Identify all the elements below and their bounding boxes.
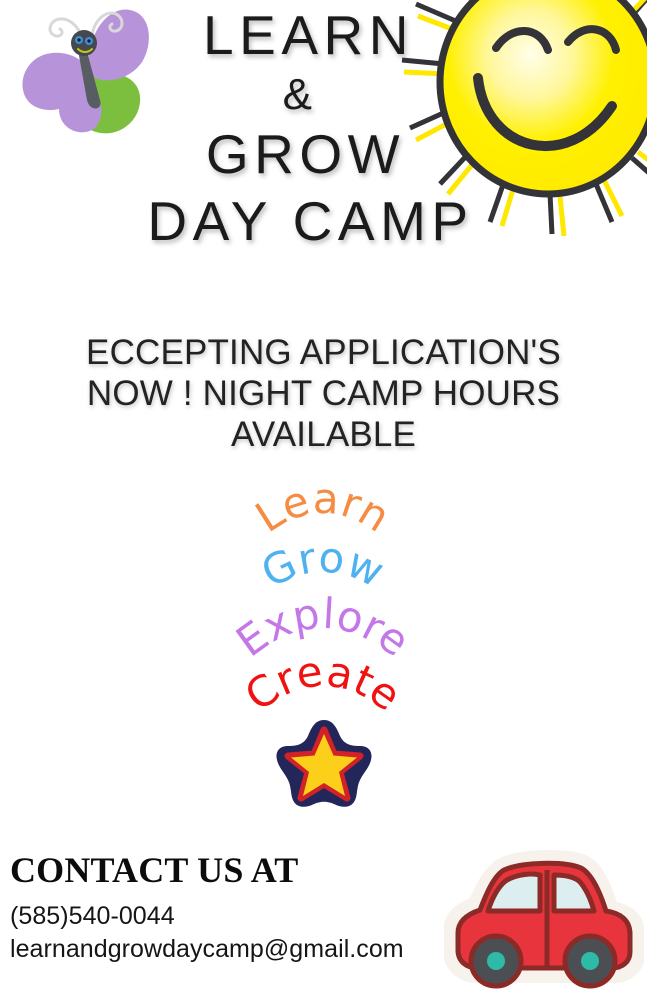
title-line-ampersand: & — [0, 73, 647, 117]
announcement-line-1: ECCEPTING APPLICATION'S — [0, 333, 647, 374]
contact-phone[interactable]: (585)540-0044 — [10, 900, 470, 934]
contact-heading: CONTACT US AT — [10, 852, 470, 890]
star-badge-icon — [274, 718, 374, 810]
arched-word-explore: Explore — [227, 589, 418, 667]
title-line-day-camp: DAY CAMP — [0, 194, 647, 249]
contact-email[interactable]: learnandgrowdaycamp@gmail.com — [10, 933, 470, 967]
announcement-line-2: NOW ! NIGHT CAMP HOURS — [0, 374, 647, 415]
announcement-text: ECCEPTING APPLICATION'S NOW ! NIGHT CAMP… — [0, 333, 647, 456]
announcement-line-3: AVAILABLE — [0, 415, 647, 456]
contact-block: CONTACT US AT (585)540-0044 learnandgrow… — [10, 852, 470, 967]
arched-words-group: Learn Grow Explore Create — [0, 476, 647, 726]
title-line-grow: GROW — [0, 127, 647, 182]
flyer-title: LEARN & GROW DAY CAMP — [0, 8, 647, 249]
title-line-learn: LEARN — [0, 8, 647, 63]
car-icon — [444, 848, 644, 998]
arched-word-learn: Learn — [247, 474, 399, 542]
arched-word-grow: Grow — [254, 532, 392, 597]
flyer-canvas: LEARN & GROW DAY CAMP ECCEPTING APPLICAT… — [0, 0, 647, 1000]
